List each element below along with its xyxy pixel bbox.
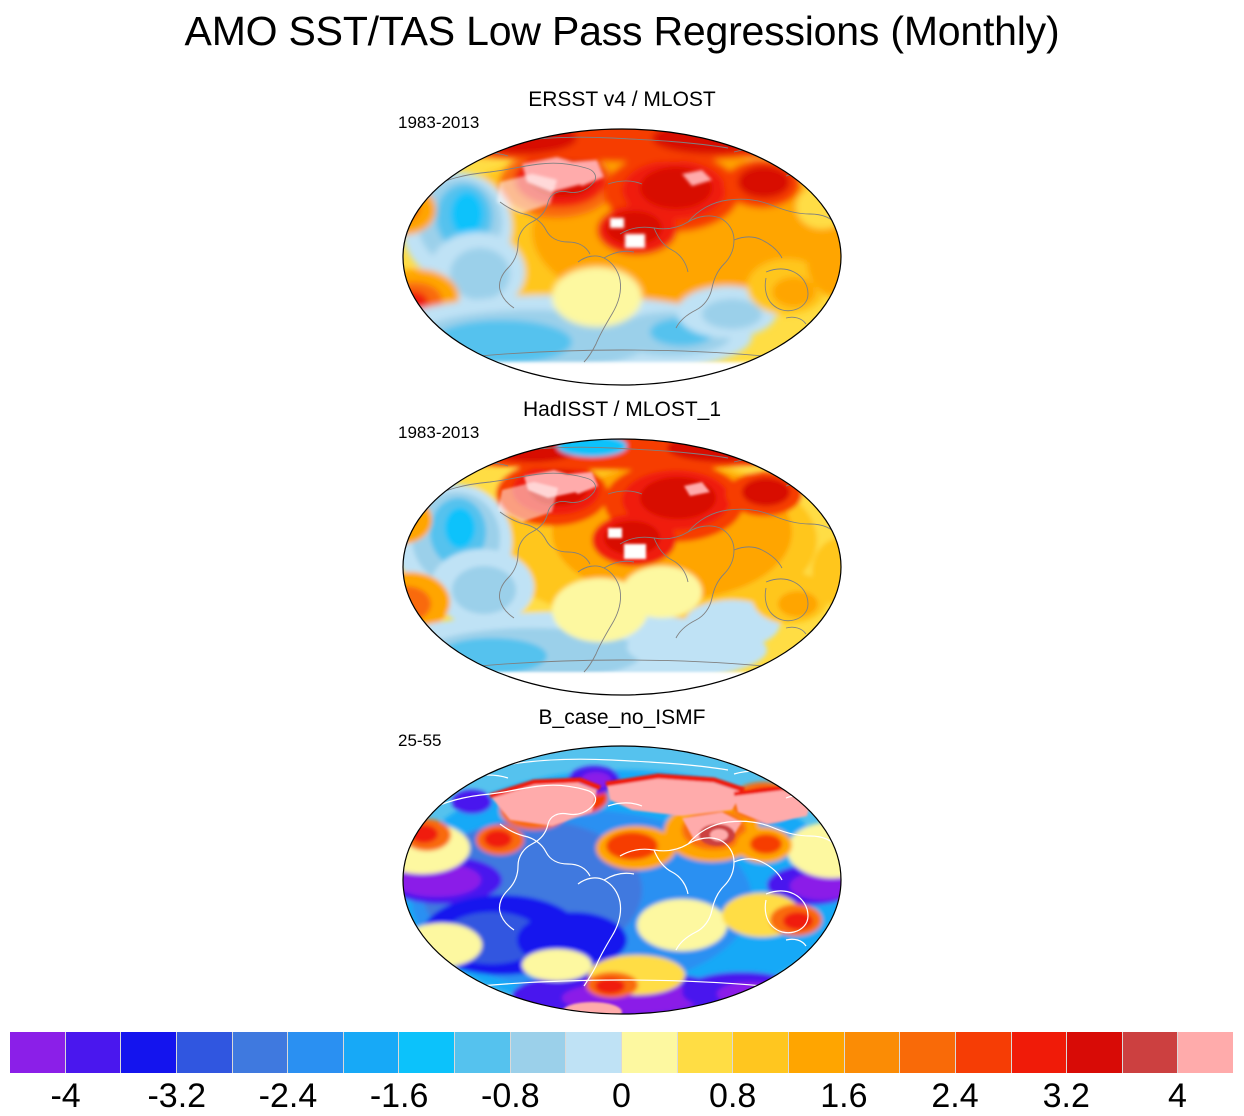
- colorbar-tick-label: 3.2: [1043, 1076, 1090, 1116]
- colorbar-cell: [233, 1032, 289, 1073]
- colorbar-tick-labels: -4-3.2-2.4-1.6-0.800.81.62.43.24: [0, 1076, 1244, 1116]
- colorbar-cell: [1067, 1032, 1123, 1073]
- colorbar-cell: [399, 1032, 455, 1073]
- panel-title-model: B_case_no_ISMF: [0, 706, 1244, 730]
- colorbar-tick-label: 1.6: [820, 1076, 867, 1116]
- colorbar-tick-label: -2.4: [259, 1076, 318, 1116]
- colorbar-tick-label: 2.4: [931, 1076, 978, 1116]
- colorbar-cell: [177, 1032, 233, 1073]
- regression-colorbar[interactable]: [10, 1032, 1233, 1073]
- colorbar-cell: [789, 1032, 845, 1073]
- map-svg-model: [382, 740, 862, 1025]
- colorbar-tick-label: -3.2: [147, 1076, 206, 1116]
- colorbar-cell: [733, 1032, 789, 1073]
- colorbar-cell: [566, 1032, 622, 1073]
- colorbar-cell: [10, 1032, 66, 1073]
- colorbar-cell: [511, 1032, 567, 1073]
- map-svg-hadisst: [382, 432, 862, 702]
- figure-root: AMO SST/TAS Low Pass Regressions (Monthl…: [0, 0, 1244, 1116]
- colorbar-tick-label: -1.6: [370, 1076, 429, 1116]
- colorbar-cell: [288, 1032, 344, 1073]
- panel-title-ersst: ERSST v4 / MLOST: [0, 88, 1244, 112]
- colorbar-cell: [1123, 1032, 1179, 1073]
- colorbar-tick-label: 0.8: [709, 1076, 756, 1116]
- colorbar-cell: [678, 1032, 734, 1073]
- colorbar-cell: [455, 1032, 511, 1073]
- page-title: AMO SST/TAS Low Pass Regressions (Monthl…: [0, 8, 1244, 55]
- colorbar-cell: [121, 1032, 177, 1073]
- colorbar-cell: [344, 1032, 400, 1073]
- colorbar-tick-label: -0.8: [481, 1076, 540, 1116]
- colorbar-cell: [1012, 1032, 1068, 1073]
- colorbar-cell: [622, 1032, 678, 1073]
- colorbar-cell: [66, 1032, 122, 1073]
- map-model: [382, 740, 862, 1025]
- colorbar-cell: [1178, 1032, 1233, 1073]
- panel-title-hadisst: HadISST / MLOST_1: [0, 398, 1244, 422]
- colorbar-cell: [956, 1032, 1012, 1073]
- colorbar-tick-label: -4: [50, 1076, 80, 1116]
- colorbar-tick-label: 0: [612, 1076, 631, 1116]
- map-hadisst: [382, 432, 862, 702]
- map-svg-ersst: [382, 122, 862, 392]
- map-ersst: [382, 122, 862, 392]
- colorbar-cell: [900, 1032, 956, 1073]
- colorbar-region: -4-3.2-2.4-1.6-0.800.81.62.43.24: [0, 1030, 1244, 1116]
- colorbar-tick-label: 4: [1168, 1076, 1187, 1116]
- colorbar-cell: [845, 1032, 901, 1073]
